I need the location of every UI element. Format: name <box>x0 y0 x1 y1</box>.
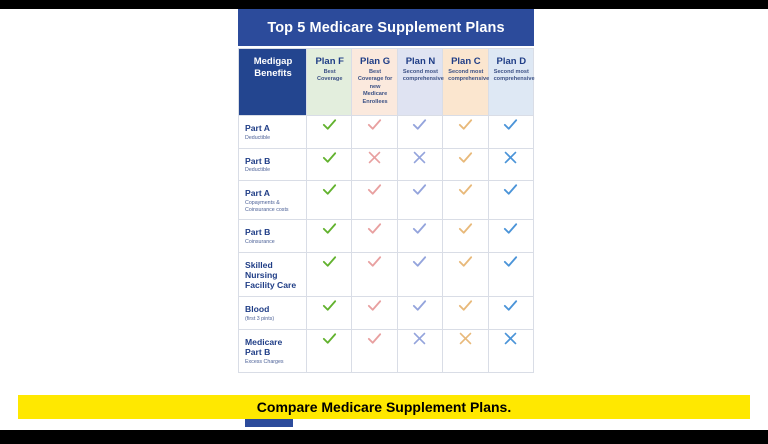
coverage-check-cell <box>443 116 488 149</box>
benefit-subtitle: Excess Charges <box>245 359 301 366</box>
check-icon <box>366 297 383 314</box>
coverage-check-cell <box>352 116 397 149</box>
benefit-label-cell: Blood(first 3 pints) <box>239 297 307 330</box>
coverage-cross-cell <box>397 329 442 372</box>
check-icon <box>411 297 428 314</box>
coverage-check-cell <box>443 297 488 330</box>
benefit-subtitle: Copayments & Coinsurance costs <box>245 200 301 214</box>
cta-label: Compare Medicare Supplement Plans. <box>257 399 511 415</box>
benefit-label-cell: Part ADeductible <box>239 116 307 149</box>
check-icon <box>366 220 383 237</box>
coverage-check-cell <box>488 116 533 149</box>
benefits-header-line1: Medigap <box>245 56 301 68</box>
coverage-check-cell <box>397 116 442 149</box>
coverage-check-cell <box>352 220 397 253</box>
check-icon <box>502 220 519 237</box>
benefits-header-line2: Benefits <box>245 68 301 80</box>
check-icon <box>502 297 519 314</box>
coverage-cross-cell <box>443 329 488 372</box>
plan-header-plan-c: Plan CSecond most comprehensive <box>443 49 488 116</box>
check-icon <box>411 181 428 198</box>
table-body: Part ADeductiblePart BDeductiblePart ACo… <box>239 116 534 373</box>
table-row: Part BDeductible <box>239 148 534 181</box>
coverage-check-cell <box>397 220 442 253</box>
benefit-name: Blood <box>245 304 301 314</box>
benefit-name: Medicare Part B <box>245 337 301 357</box>
cross-icon <box>502 330 519 347</box>
bottom-white-strip <box>0 419 768 430</box>
check-icon <box>411 253 428 270</box>
check-icon <box>366 116 383 133</box>
benefit-subtitle: (first 3 pints) <box>245 316 301 323</box>
cta-banner: Compare Medicare Supplement Plans. <box>18 395 750 419</box>
cross-icon <box>366 149 383 166</box>
coverage-check-cell <box>352 252 397 297</box>
coverage-check-cell <box>352 181 397 220</box>
table-row: Medicare Part BExcess Charges <box>239 329 534 372</box>
page-title: Top 5 Medicare Supplement Plans <box>267 20 504 36</box>
coverage-cross-cell <box>397 148 442 181</box>
plan-header-plan-g: Plan GBest Coverage for new Medicare Enr… <box>352 49 397 116</box>
benefit-label-cell: Skilled Nursing Facility Care <box>239 252 307 297</box>
benefit-name: Part A <box>245 188 301 198</box>
benefit-label-cell: Part BDeductible <box>239 148 307 181</box>
plan-header-plan-d: Plan DSecond most comprehensive <box>488 49 533 116</box>
benefit-name: Skilled Nursing Facility Care <box>245 260 301 291</box>
header-row: Medigap Benefits Plan FBest CoveragePlan… <box>239 49 534 116</box>
plan-description: Best Coverage for new Medicare Enrollees <box>357 69 392 106</box>
cross-icon <box>457 330 474 347</box>
benefit-name: Part A <box>245 123 301 133</box>
infographic-canvas: Top 5 Medicare Supplement Plans Medigap … <box>0 9 768 430</box>
coverage-check-cell <box>397 181 442 220</box>
check-icon <box>457 181 474 198</box>
check-icon <box>457 149 474 166</box>
check-icon <box>366 253 383 270</box>
coverage-check-cell <box>488 181 533 220</box>
table-row: Part ADeductible <box>239 116 534 149</box>
plan-description: Second most comprehensive <box>448 69 483 84</box>
coverage-check-cell <box>488 252 533 297</box>
coverage-check-cell <box>443 148 488 181</box>
coverage-check-cell <box>397 252 442 297</box>
cross-icon <box>411 149 428 166</box>
check-icon <box>502 253 519 270</box>
plan-header-plan-n: Plan NSecond most comprehensive <box>397 49 442 116</box>
coverage-check-cell <box>307 329 352 372</box>
plan-name: Plan N <box>403 56 438 67</box>
coverage-check-cell <box>443 181 488 220</box>
plan-header-plan-f: Plan FBest Coverage <box>307 49 352 116</box>
plan-description: Best Coverage <box>312 69 347 84</box>
benefits-header-cell: Medigap Benefits <box>239 49 307 116</box>
coverage-check-cell <box>307 297 352 330</box>
coverage-cross-cell <box>352 148 397 181</box>
benefit-label-cell: Part BCoinsurance <box>239 220 307 253</box>
coverage-check-cell <box>443 220 488 253</box>
coverage-check-cell <box>397 297 442 330</box>
coverage-check-cell <box>307 220 352 253</box>
check-icon <box>366 181 383 198</box>
benefit-label-cell: Medicare Part BExcess Charges <box>239 329 307 372</box>
benefit-name: Part B <box>245 156 301 166</box>
coverage-check-cell <box>307 181 352 220</box>
coverage-check-cell <box>307 252 352 297</box>
table-footer-stub <box>245 419 293 427</box>
table-row: Part BCoinsurance <box>239 220 534 253</box>
coverage-check-cell <box>307 116 352 149</box>
coverage-check-cell <box>352 297 397 330</box>
plan-name: Plan G <box>357 56 392 67</box>
check-icon <box>321 149 338 166</box>
check-icon <box>411 220 428 237</box>
plan-name: Plan C <box>448 56 483 67</box>
title-banner: Top 5 Medicare Supplement Plans <box>238 9 534 46</box>
table-row: Part ACopayments & Coinsurance costs <box>239 181 534 220</box>
check-icon <box>457 297 474 314</box>
check-icon <box>321 116 338 133</box>
check-icon <box>366 330 383 347</box>
coverage-check-cell <box>352 329 397 372</box>
cross-icon <box>502 149 519 166</box>
table-header: Medigap Benefits Plan FBest CoveragePlan… <box>239 49 534 116</box>
benefit-label-cell: Part ACopayments & Coinsurance costs <box>239 181 307 220</box>
check-icon <box>321 220 338 237</box>
check-icon <box>321 181 338 198</box>
plan-name: Plan D <box>494 56 529 67</box>
benefit-subtitle: Deductible <box>245 135 301 142</box>
check-icon <box>457 116 474 133</box>
check-icon <box>502 181 519 198</box>
benefit-name: Part B <box>245 227 301 237</box>
plan-name: Plan F <box>312 56 347 67</box>
check-icon <box>321 297 338 314</box>
coverage-cross-cell <box>488 329 533 372</box>
check-icon <box>411 116 428 133</box>
benefit-subtitle: Coinsurance <box>245 239 301 246</box>
check-icon <box>502 116 519 133</box>
table-row: Skilled Nursing Facility Care <box>239 252 534 297</box>
coverage-cross-cell <box>488 148 533 181</box>
check-icon <box>457 220 474 237</box>
coverage-check-cell <box>443 252 488 297</box>
coverage-check-cell <box>488 297 533 330</box>
medigap-comparison-table: Medigap Benefits Plan FBest CoveragePlan… <box>238 48 534 373</box>
check-icon <box>321 253 338 270</box>
coverage-check-cell <box>488 220 533 253</box>
check-icon <box>457 253 474 270</box>
benefit-subtitle: Deductible <box>245 167 301 174</box>
table-row: Blood(first 3 pints) <box>239 297 534 330</box>
coverage-check-cell <box>307 148 352 181</box>
plan-description: Second most comprehensive <box>494 69 529 84</box>
plan-description: Second most comprehensive <box>403 69 438 84</box>
cross-icon <box>411 330 428 347</box>
check-icon <box>321 330 338 347</box>
